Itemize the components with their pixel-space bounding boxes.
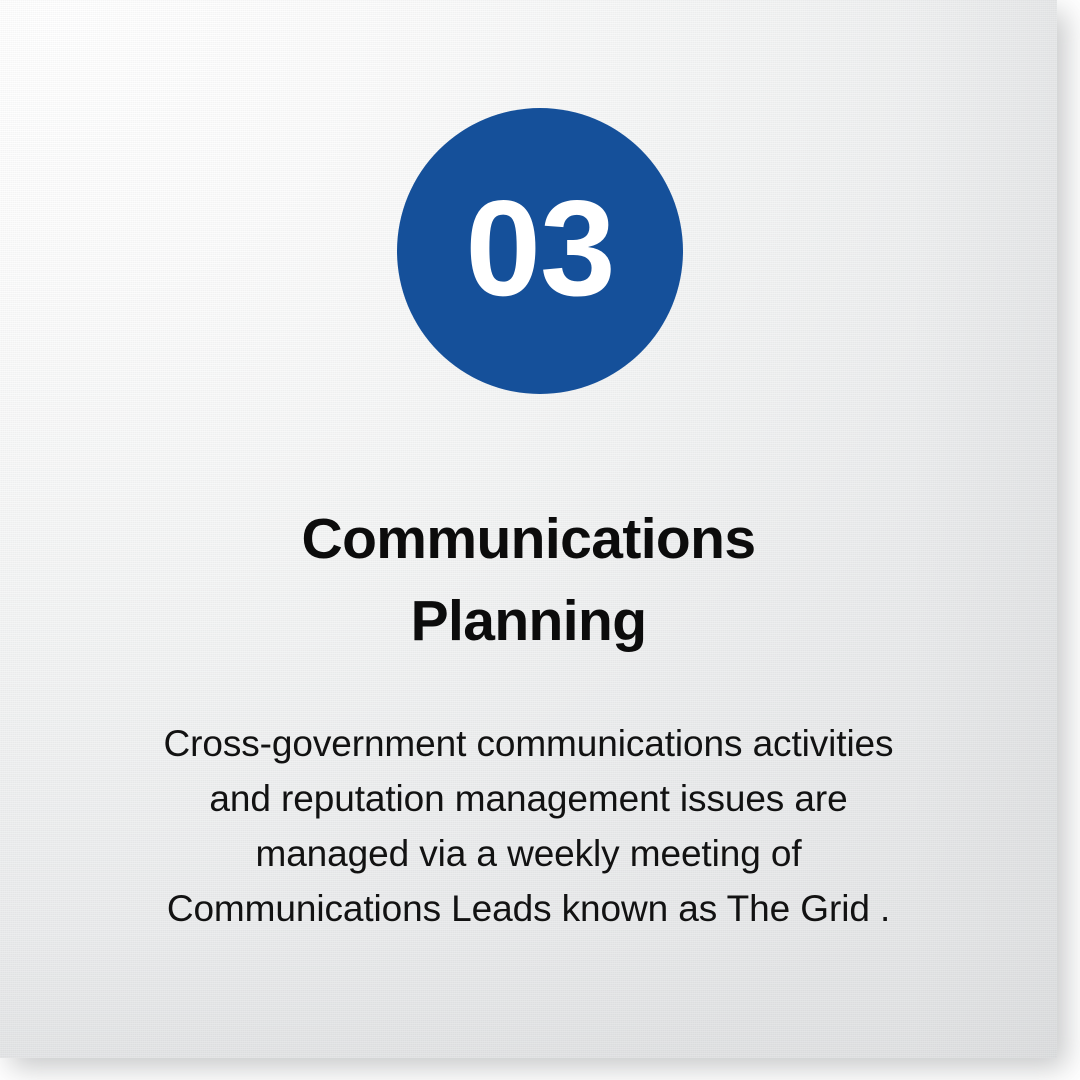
section-title-line-2: Planning	[110, 580, 947, 662]
section-body-line-3: managed via a weekly meeting of	[110, 826, 947, 881]
section-body-line-4: Communications Leads known as The Grid .	[110, 881, 947, 936]
content-card: 03 Communications Planning Cross-governm…	[0, 0, 1057, 1058]
card-content: 03 Communications Planning Cross-governm…	[0, 0, 1057, 1058]
slide-stage: 03 Communications Planning Cross-governm…	[0, 0, 1080, 1080]
section-body-line-1: Cross-government communications activiti…	[110, 716, 947, 771]
section-title-line-1: Communications	[110, 498, 947, 580]
section-body-line-2: and reputation management issues are	[110, 771, 947, 826]
section-body-text: Cross-government communications activiti…	[110, 716, 947, 936]
section-title: Communications Planning	[110, 498, 947, 662]
step-number-badge: 03	[397, 108, 683, 394]
step-number-label: 03	[465, 180, 614, 316]
